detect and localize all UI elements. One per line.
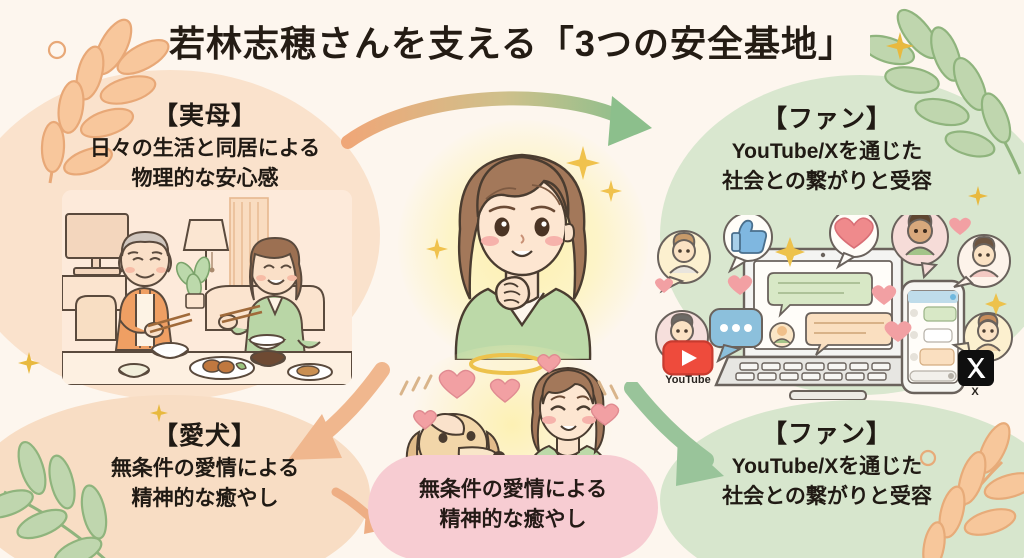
x-label: X xyxy=(958,386,992,398)
block-bottom-left: 【愛犬】 無条件の愛情による 精神的な癒やし xyxy=(55,420,355,512)
block-bottom-left-head: 【愛犬】 xyxy=(55,420,355,453)
youtube-label: YouTube xyxy=(655,374,721,386)
infographic-poster: 若林志穂さんを支える「3つの安全基地」 xyxy=(0,0,1024,558)
sparkle-icon xyxy=(426,238,448,260)
sparkle-icon xyxy=(566,146,600,180)
block-top-right-line2: 社会との繋がりと受容 xyxy=(672,168,982,196)
block-center-pink: 無条件の愛情による 精神的な癒やし xyxy=(378,474,648,533)
block-bottom-right-head: 【ファン】 xyxy=(668,418,986,451)
block-bottom-right: 【ファン】 YouTube/Xを通じた 社会との繋がりと受容 xyxy=(668,418,986,510)
block-top-left-line2: 物理的な安心感 xyxy=(55,165,355,193)
block-top-right-line1: YouTube/Xを通じた xyxy=(672,138,982,166)
block-top-right-head: 【ファン】 xyxy=(672,103,982,136)
block-center-pink-line2: 精神的な癒やし xyxy=(378,506,648,534)
block-bottom-left-line2: 精神的な癒やし xyxy=(55,485,355,513)
sparkle-icon xyxy=(886,32,914,60)
sparkle-icon xyxy=(18,352,40,374)
mother-and-daughter-dining-illustration xyxy=(62,190,352,385)
block-top-left-head: 【実母】 xyxy=(55,100,355,133)
block-top-left: 【実母】 日々の生活と同居による 物理的な安心感 xyxy=(55,100,355,192)
block-bottom-left-line1: 無条件の愛情による xyxy=(55,455,355,483)
block-top-left-line1: 日々の生活と同居による xyxy=(55,135,355,163)
sparkle-icon xyxy=(600,180,622,202)
page-title: 若林志穂さんを支える「3つの安全基地」 xyxy=(0,22,1024,65)
block-center-pink-line1: 無条件の愛情による xyxy=(378,476,648,504)
x-logo-icon[interactable] xyxy=(958,350,994,386)
block-top-right: 【ファン】 YouTube/Xを通じた 社会との繋がりと受容 xyxy=(672,103,982,195)
youtube-logo-icon[interactable] xyxy=(662,340,714,376)
block-bottom-right-line1: YouTube/Xを通じた xyxy=(668,453,986,481)
block-bottom-right-line2: 社会との繋がりと受容 xyxy=(668,483,986,511)
